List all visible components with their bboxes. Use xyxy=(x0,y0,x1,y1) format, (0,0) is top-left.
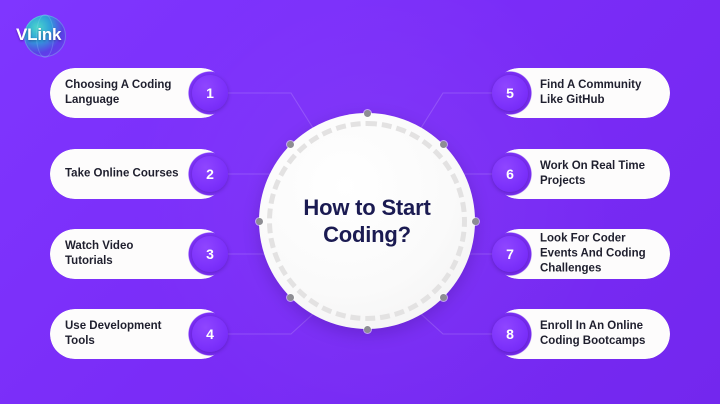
hub-anchor-dot xyxy=(364,326,371,333)
step-item-3[interactable]: Watch Video Tutorials 3 xyxy=(50,229,226,279)
step-label: Take Online Courses xyxy=(65,167,180,182)
step-number-badge: 1 xyxy=(192,75,228,111)
step-number-badge: 8 xyxy=(492,316,528,352)
hub-anchor-dot xyxy=(440,294,447,301)
hub-anchor-dot xyxy=(287,141,294,148)
step-label: Find A Community Like GitHub xyxy=(540,78,660,108)
step-label: Work On Real Time Projects xyxy=(540,159,660,189)
step-item-1[interactable]: Choosing A Coding Language 1 xyxy=(50,68,226,118)
step-number-badge: 7 xyxy=(492,236,528,272)
step-item-2[interactable]: Take Online Courses 2 xyxy=(50,149,226,199)
step-number-badge: 4 xyxy=(192,316,228,352)
step-item-8[interactable]: Enroll In An Online Coding Bootcamps 8 xyxy=(494,309,670,359)
step-label: Enroll In An Online Coding Bootcamps xyxy=(540,319,660,349)
step-number-badge: 3 xyxy=(192,236,228,272)
hub-title: How to Start Coding? xyxy=(259,194,475,248)
step-label: Use Development Tools xyxy=(65,319,180,349)
step-number-badge: 2 xyxy=(192,156,228,192)
step-item-7[interactable]: Look For Coder Events And Coding Challen… xyxy=(494,229,670,279)
step-number-badge: 5 xyxy=(492,75,528,111)
step-item-6[interactable]: Work On Real Time Projects 6 xyxy=(494,149,670,199)
hub-anchor-dot xyxy=(440,141,447,148)
step-item-4[interactable]: Use Development Tools 4 xyxy=(50,309,226,359)
center-hub: How to Start Coding? xyxy=(259,113,475,329)
step-number-badge: 6 xyxy=(492,156,528,192)
infographic-canvas: VLink How to Start Coding? Choosing A Co… xyxy=(0,0,720,404)
brand-logo[interactable]: VLink xyxy=(14,14,88,58)
step-label: Choosing A Coding Language xyxy=(65,78,180,108)
step-item-5[interactable]: Find A Community Like GitHub 5 xyxy=(494,68,670,118)
step-label: Look For Coder Events And Coding Challen… xyxy=(540,232,660,277)
hub-anchor-dot xyxy=(364,110,371,117)
step-label: Watch Video Tutorials xyxy=(65,239,180,269)
brand-name: VLink xyxy=(16,25,88,45)
hub-anchor-dot xyxy=(287,294,294,301)
